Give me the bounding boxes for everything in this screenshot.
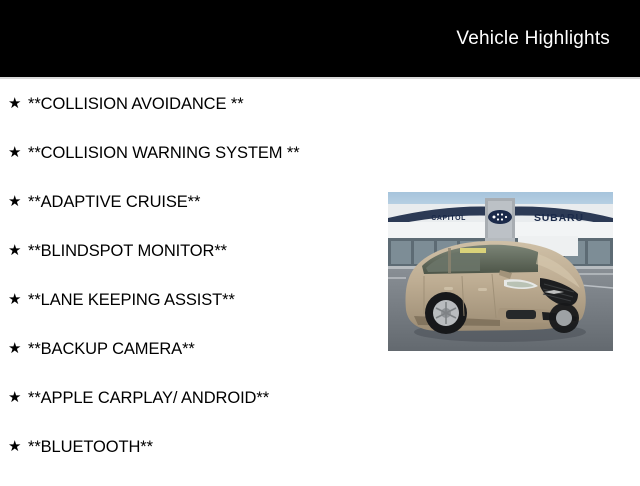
star-bullet-icon: ★	[8, 388, 28, 408]
svg-text:CAPITOL: CAPITOL	[431, 215, 466, 222]
highlight-label: **ADAPTIVE CRUISE**	[28, 192, 380, 212]
vehicle-highlights-list: ★ **COLLISION AVOIDANCE ** ★ **COLLISION…	[0, 79, 380, 486]
highlight-label: **BLINDSPOT MONITOR**	[28, 241, 380, 261]
list-item: ★ **COLLISION WARNING SYSTEM **	[0, 143, 380, 192]
highlight-label: **LANE KEEPING ASSIST**	[28, 290, 380, 310]
list-item: ★ **APPLE CARPLAY/ ANDROID**	[0, 388, 380, 437]
star-bullet-icon: ★	[8, 94, 28, 114]
highlight-label: **BACKUP CAMERA**	[28, 339, 380, 359]
header-banner: Vehicle Highlights	[0, 0, 640, 77]
star-bullet-icon: ★	[8, 143, 28, 163]
svg-text:SUBARU: SUBARU	[534, 212, 584, 224]
star-bullet-icon: ★	[8, 339, 28, 359]
star-bullet-icon: ★	[8, 192, 28, 212]
page-title: Vehicle Highlights	[456, 28, 610, 50]
highlight-label: **BLUETOOTH**	[28, 437, 380, 457]
vehicle-photo: CAPITOL SUBARU	[388, 192, 613, 351]
star-bullet-icon: ★	[8, 437, 28, 457]
highlight-label: **COLLISION AVOIDANCE **	[28, 94, 380, 114]
list-item: ★ **COLLISION AVOIDANCE **	[0, 79, 380, 143]
star-bullet-icon: ★	[8, 290, 28, 310]
list-item: ★ **ADAPTIVE CRUISE**	[0, 192, 380, 241]
list-item: ★ **BLINDSPOT MONITOR**	[0, 241, 380, 290]
highlight-label: **APPLE CARPLAY/ ANDROID**	[28, 388, 380, 408]
highlight-label: **COLLISION WARNING SYSTEM **	[28, 143, 380, 163]
list-item: ★ **BLUETOOTH**	[0, 437, 380, 486]
list-item: ★ **BACKUP CAMERA**	[0, 339, 380, 388]
star-bullet-icon: ★	[8, 241, 28, 261]
vehicle-photo-illustration: CAPITOL SUBARU	[388, 192, 613, 351]
list-item: ★ **LANE KEEPING ASSIST**	[0, 290, 380, 339]
